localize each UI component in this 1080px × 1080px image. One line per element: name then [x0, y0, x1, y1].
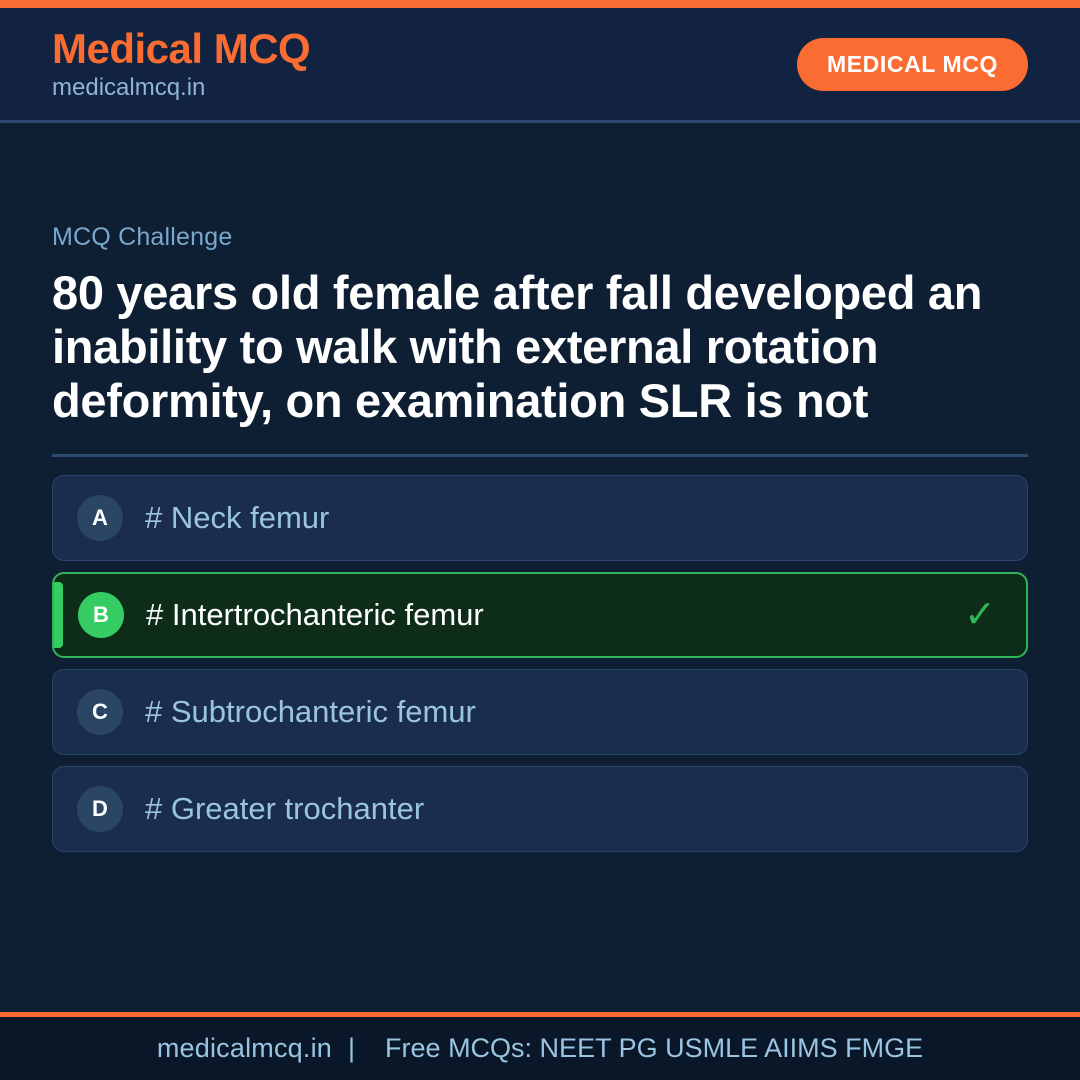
option-b-letter: B	[78, 592, 124, 638]
check-icon: ✓	[964, 596, 1002, 634]
options-list: A # Neck femur ✓ B # Intertrochanteric f…	[52, 475, 1028, 852]
option-c-text: # Subtrochanteric femur	[145, 694, 476, 730]
option-d-letter: D	[77, 786, 123, 832]
page-footer: medicalmcq.in | Free MCQs: NEET PG USMLE…	[0, 1017, 1080, 1080]
question-text: 80 years old female after fall developed…	[52, 266, 1012, 428]
option-a-text: # Neck femur	[145, 500, 329, 536]
correct-accent-bar	[54, 582, 63, 648]
eyebrow-label: MCQ Challenge	[52, 223, 1028, 252]
mcq-card: Medical MCQ medicalmcq.in MEDICAL MCQ MC…	[0, 0, 1080, 1080]
brand: Medical MCQ medicalmcq.in	[52, 28, 310, 100]
footer-separator: |	[332, 1033, 371, 1064]
page-header: Medical MCQ medicalmcq.in MEDICAL MCQ	[0, 8, 1080, 123]
option-c[interactable]: C # Subtrochanteric femur ✓	[52, 669, 1028, 755]
option-d-text: # Greater trochanter	[145, 791, 424, 827]
footer-site: medicalmcq.in	[157, 1033, 332, 1064]
option-c-letter: C	[77, 689, 123, 735]
header-badge: MEDICAL MCQ	[797, 38, 1028, 91]
option-d[interactable]: D # Greater trochanter ✓	[52, 766, 1028, 852]
main-content: MCQ Challenge 80 years old female after …	[0, 123, 1080, 1012]
option-a-letter: A	[77, 495, 123, 541]
footer-wrap: medicalmcq.in | Free MCQs: NEET PG USMLE…	[0, 1012, 1080, 1080]
top-accent-bar	[0, 0, 1080, 8]
question-divider	[52, 454, 1028, 457]
option-b[interactable]: B # Intertrochanteric femur ✓	[52, 572, 1028, 658]
option-a[interactable]: A # Neck femur ✓	[52, 475, 1028, 561]
brand-title: Medical MCQ	[52, 28, 310, 70]
footer-tagline: Free MCQs: NEET PG USMLE AIIMS FMGE	[371, 1033, 923, 1064]
option-b-text: # Intertrochanteric femur	[146, 597, 484, 633]
brand-subtitle: medicalmcq.in	[52, 76, 310, 100]
